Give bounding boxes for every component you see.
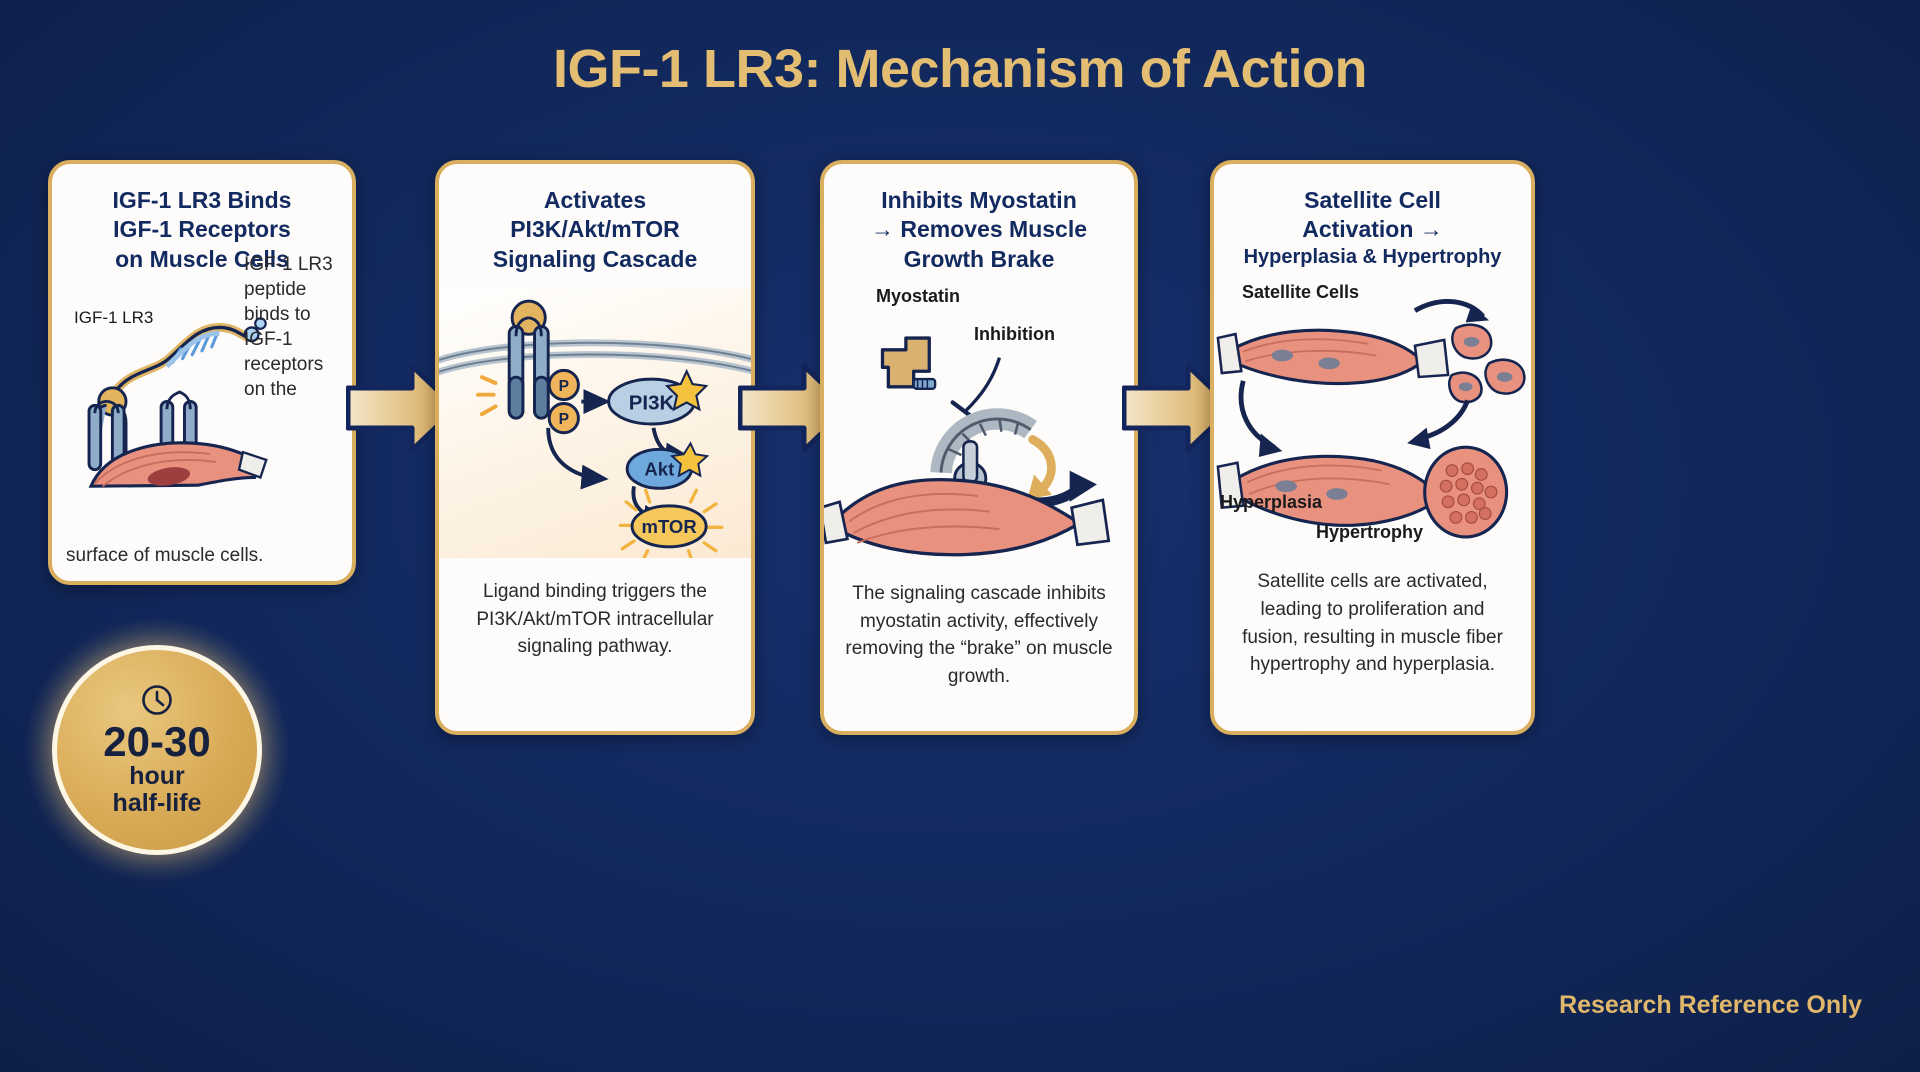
step-2-heading: Activates PI3K/Akt/mTOR Signaling Cascad… — [439, 164, 751, 274]
step-3-body: The signaling cascade inhibits myostatin… — [824, 580, 1134, 690]
badge-value: 20-30 — [103, 721, 210, 763]
svg-text:P: P — [559, 378, 569, 395]
label-hypertrophy: Hypertrophy — [1316, 522, 1423, 543]
step-card-2[interactable]: Activates PI3K/Akt/mTOR Signaling Cascad… — [435, 160, 755, 735]
step-4-heading: Satellite Cell Activation → Hyperplasia … — [1214, 164, 1531, 270]
step-card-3[interactable]: Inhibits Myostatin → Removes Muscle Grow… — [820, 160, 1138, 735]
label-satellite-cells: Satellite Cells — [1242, 282, 1359, 303]
label-hyperplasia: Hyperplasia — [1220, 492, 1322, 513]
label-inhibition: Inhibition — [974, 324, 1055, 345]
step-4-body: Satellite cells are activated, leading t… — [1214, 568, 1531, 678]
step-2-body: Ligand binding triggers the PI3K/Akt/mTO… — [439, 578, 751, 661]
step-2-illustration: P P PI3K Akt — [439, 288, 751, 558]
step-4-illustration: Satellite Cells Hyperplasia Hypertrophy — [1214, 270, 1531, 560]
page-title: IGF-1 LR3: Mechanism of Action — [0, 38, 1920, 100]
steps-row: IGF-1 LR3 Binds IGF-1 Receptors on Muscl… — [0, 160, 1920, 800]
svg-text:mTOR: mTOR — [641, 516, 696, 537]
step-1-last-line: surface of muscle cells. — [66, 545, 346, 567]
step-3-illustration: Myostatin Inhibition — [824, 274, 1134, 564]
label-igf1-lr3: IGF-1 LR3 — [74, 308, 153, 328]
infographic-page: IGF-1 LR3: Mechanism of Action IGF-1 LR3… — [0, 0, 1920, 1072]
badge-circle: 20-30 hour half-life — [52, 645, 262, 855]
label-myostatin: Myostatin — [876, 286, 960, 307]
step-card-4[interactable]: Satellite Cell Activation → Hyperplasia … — [1210, 160, 1535, 735]
step-card-1[interactable]: IGF-1 LR3 Binds IGF-1 Receptors on Muscl… — [48, 160, 356, 585]
svg-text:Akt: Akt — [644, 459, 674, 480]
half-life-badge: 20-30 hour half-life — [52, 645, 262, 855]
footer-note: Research Reference Only — [1559, 991, 1862, 1020]
step-3-heading: Inhibits Myostatin → Removes Muscle Grow… — [824, 164, 1134, 274]
svg-text:P: P — [559, 411, 569, 428]
svg-text:PI3K: PI3K — [629, 392, 675, 415]
clock-icon — [140, 683, 174, 717]
badge-unit-2: half-life — [113, 790, 202, 818]
badge-unit-1: hour — [129, 763, 185, 791]
step-1-side-text: IGF-1 LR3 peptide binds to IGF-1 recepto… — [244, 252, 340, 402]
